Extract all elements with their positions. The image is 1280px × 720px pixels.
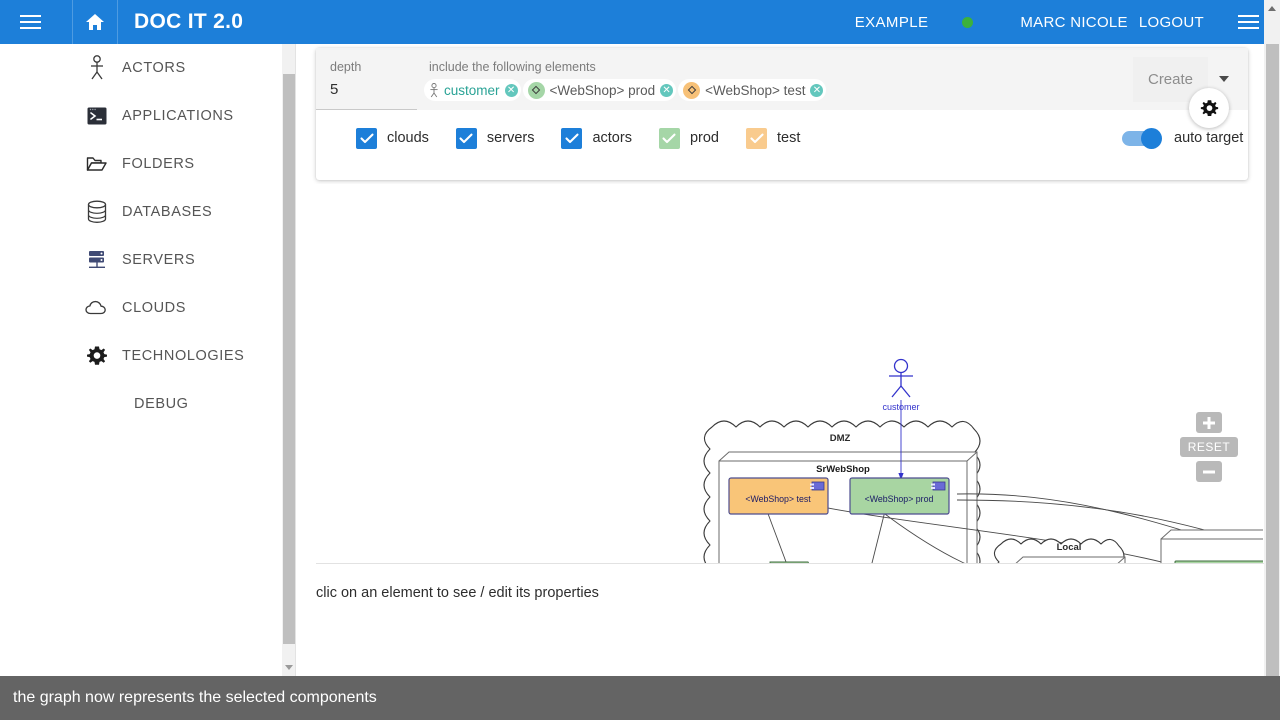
caption-text: the graph now represents the selected co… [13, 689, 377, 707]
zoom-controls: RESET [1196, 412, 1222, 486]
diagram-viewport: customer sale repr DMZ SrWebS [316, 184, 1263, 564]
main-content: depth 5 include the following elements [297, 44, 1263, 676]
checkbox-label: prod [690, 130, 719, 146]
checkbox-label: clouds [387, 130, 429, 146]
actor-icon [82, 53, 112, 83]
sidebar-item-label: FOLDERS [122, 156, 195, 172]
close-icon[interactable]: ✕ [660, 84, 673, 97]
sidebar-item-folders[interactable]: FOLDERS [0, 140, 282, 188]
component-label: <WebShop> prod [865, 494, 934, 504]
environment-label[interactable]: EXAMPLE [855, 14, 929, 31]
sidebar-item-label: CLOUDS [122, 300, 186, 316]
component-webshop-prod[interactable]: <WebShop> prod [850, 478, 949, 514]
gear-icon [82, 341, 112, 371]
status-caption-bar: the graph now represents the selected co… [0, 676, 1280, 720]
terminal-icon [82, 101, 112, 131]
zoom-reset-button[interactable]: RESET [1180, 437, 1238, 457]
architecture-diagram[interactable]: customer sale repr DMZ SrWebS [316, 184, 1263, 564]
checkbox-prod[interactable]: prod [659, 128, 719, 149]
scrollbar-thumb[interactable] [1266, 44, 1279, 676]
close-icon[interactable]: ✕ [810, 84, 823, 97]
properties-hint: clic on an element to see / edit its pro… [316, 585, 599, 601]
checkbox-label: servers [487, 130, 535, 146]
component-label: <WebShop> test [745, 494, 811, 504]
hamburger-bar [1238, 27, 1259, 29]
checkbox-box[interactable] [561, 128, 582, 149]
sidebar-item-servers[interactable]: SERVERS [0, 236, 282, 284]
chip-label: <WebShop> test [705, 83, 805, 98]
user-name: MARC NICOLE [1020, 14, 1127, 31]
close-icon[interactable]: ✕ [505, 84, 518, 97]
checkbox-box[interactable] [659, 128, 680, 149]
chip-list: customer ✕ <WebShop> prod ✕ <WebShop> te… [424, 79, 1248, 101]
settings-button[interactable] [1189, 88, 1229, 128]
zoom-out-button[interactable] [1196, 461, 1222, 482]
checkbox-actors[interactable]: actors [561, 128, 632, 149]
chevron-down-icon[interactable] [285, 665, 293, 670]
diamond-icon [528, 82, 545, 99]
toggle-knob [1141, 128, 1162, 149]
server-label: SrWebShop [816, 464, 870, 475]
sidebar-item-applications[interactable]: APPLICATIONS [0, 92, 282, 140]
status-badge [962, 17, 973, 28]
component-webshop-test[interactable]: <WebShop> test [729, 478, 828, 514]
app-header-left: DOC IT 2.0 [0, 0, 243, 44]
checkbox-box[interactable] [456, 128, 477, 149]
checkbox-box[interactable] [746, 128, 767, 149]
page-title: DOC IT 2.0 [134, 10, 243, 34]
sidebar-item-label: APPLICATIONS [122, 108, 234, 124]
type-filter-checkboxes: clouds servers actors prod [316, 118, 1248, 158]
chip-webshop-test[interactable]: <WebShop> test ✕ [678, 79, 826, 101]
server-srerp[interactable]: SrERP [1161, 530, 1263, 564]
sidebar-item-clouds[interactable]: CLOUDS [0, 284, 282, 332]
sidebar-item-databases[interactable]: DATABASES [0, 188, 282, 236]
checkbox-servers[interactable]: servers [456, 128, 535, 149]
checkbox-box[interactable] [356, 128, 377, 149]
home-button[interactable] [72, 0, 118, 44]
sidebar-item-label: TECHNOLOGIES [122, 348, 244, 364]
hamburger-bar [20, 27, 41, 29]
depth-label: depth [330, 60, 417, 74]
sidebar: ACTORS APPLICATIONS FOLDERS [0, 44, 282, 676]
chevron-up-icon[interactable] [1268, 6, 1276, 11]
chip-label: <WebShop> prod [550, 83, 656, 98]
chip-webshop-prod[interactable]: <WebShop> prod ✕ [523, 79, 677, 101]
hamburger-bar [20, 21, 41, 23]
database-icon [82, 197, 112, 227]
cloud-label: DMZ [830, 433, 851, 444]
cloud-label: Local [1057, 542, 1082, 553]
actor-icon [429, 83, 439, 98]
chevron-down-icon [1219, 76, 1229, 82]
sidebar-item-label: ACTORS [122, 60, 186, 76]
filter-row: depth 5 include the following elements [316, 48, 1248, 110]
sidebar-scrollbar[interactable] [282, 44, 296, 676]
gear-icon [1200, 99, 1219, 118]
chip-label: customer [444, 83, 500, 98]
depth-field[interactable]: depth 5 [316, 48, 417, 110]
toggle-track[interactable] [1122, 131, 1160, 146]
depth-value[interactable]: 5 [330, 81, 417, 98]
cloud-icon [82, 293, 112, 323]
sidebar-item-label: DATABASES [122, 204, 212, 220]
sidebar-item-actors[interactable]: ACTORS [0, 44, 282, 92]
app-header-right: EXAMPLE MARC NICOLE LOGOUT [855, 0, 1280, 44]
include-elements-field[interactable]: include the following elements [417, 48, 1248, 110]
chip-customer[interactable]: customer ✕ [424, 79, 521, 101]
sidebar-item-label: DEBUG [134, 396, 189, 412]
sidebar-item-technologies[interactable]: TECHNOLOGIES [0, 332, 282, 380]
checkbox-clouds[interactable]: clouds [356, 128, 429, 149]
minus-icon [1202, 465, 1216, 479]
checkbox-label: actors [592, 130, 632, 146]
diamond-icon [683, 82, 700, 99]
menu-icon[interactable] [8, 0, 52, 44]
properties-panel: clic on an element to see / edit its pro… [316, 565, 1263, 675]
auto-target-toggle[interactable]: auto target [1122, 130, 1243, 146]
folder-icon [82, 149, 112, 179]
checkbox-label: test [777, 130, 800, 146]
hamburger-bar [1238, 15, 1259, 17]
server-icon [82, 245, 112, 275]
hamburger-bar [20, 15, 41, 17]
component-apache-test[interactable]: <Apache> test [1175, 561, 1263, 564]
page-scrollbar[interactable] [1264, 0, 1280, 676]
zoom-in-button[interactable] [1196, 412, 1222, 433]
sidebar-item-label: SERVERS [122, 252, 195, 268]
home-icon [84, 12, 106, 32]
plus-icon [1202, 416, 1216, 430]
include-elements-label: include the following elements [429, 60, 1248, 74]
filter-toolbar: depth 5 include the following elements [316, 48, 1248, 180]
logout-button[interactable]: LOGOUT [1139, 14, 1204, 31]
diagram-canvas[interactable]: customer sale repr DMZ SrWebS [316, 184, 1280, 564]
hamburger-bar [1238, 21, 1259, 23]
server-srdbwebshop[interactable]: SrDbWebShop [1013, 557, 1125, 564]
checkbox-test[interactable]: test [746, 128, 800, 149]
app-header: DOC IT 2.0 EXAMPLE MARC NICOLE LOGOUT [0, 0, 1280, 44]
sidebar-item-debug[interactable]: DEBUG [0, 380, 282, 428]
auto-target-label: auto target [1174, 130, 1243, 146]
scrollbar-thumb[interactable] [283, 74, 295, 644]
